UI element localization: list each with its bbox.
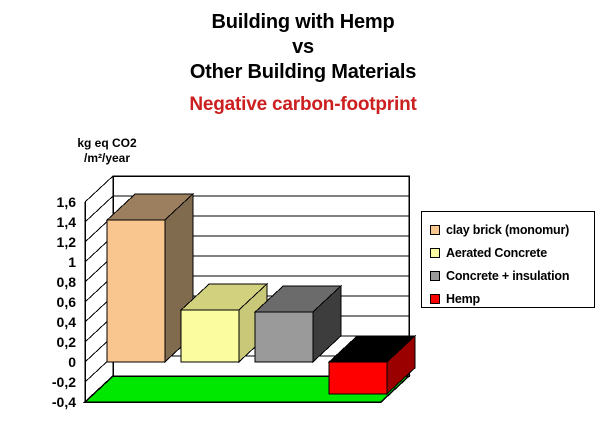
legend-swatch-icon bbox=[430, 248, 440, 258]
y-tick-label: 0,2 bbox=[22, 335, 76, 349]
y-tick-label: 0,8 bbox=[22, 275, 76, 289]
legend-item[interactable]: Concrete + insulation bbox=[430, 265, 594, 286]
bar-front-face bbox=[329, 362, 387, 394]
y-tick-label: 0,4 bbox=[22, 315, 76, 329]
y-tick-label: 1 bbox=[22, 255, 76, 269]
legend-item-label: Concrete + insulation bbox=[446, 269, 569, 283]
legend-item[interactable]: clay brick (monomur) bbox=[430, 219, 594, 240]
bar-front-face bbox=[255, 312, 313, 362]
tick-connector bbox=[85, 176, 113, 202]
legend-item-label: Hemp bbox=[446, 292, 480, 306]
legend[interactable]: clay brick (monomur)Aerated ConcreteConc… bbox=[421, 211, 595, 308]
bar-front-face bbox=[181, 310, 239, 362]
y-tick-label: 0,6 bbox=[22, 295, 76, 309]
y-tick-label: 1,4 bbox=[22, 215, 76, 229]
legend-item-label: clay brick (monomur) bbox=[446, 223, 569, 237]
legend-item-label: Aerated Concrete bbox=[446, 246, 547, 260]
y-tick-label: -0,2 bbox=[22, 375, 76, 389]
chart-root: Building with Hemp vs Other Building Mat… bbox=[0, 0, 606, 430]
legend-item[interactable]: Aerated Concrete bbox=[430, 242, 594, 263]
bar-front-face bbox=[107, 220, 165, 362]
y-tick-label: 1,6 bbox=[22, 195, 76, 209]
y-tick-label: -0,4 bbox=[22, 395, 76, 409]
legend-item[interactable]: Hemp bbox=[430, 288, 594, 309]
y-tick-label: 1,2 bbox=[22, 235, 76, 249]
legend-swatch-icon bbox=[430, 271, 440, 281]
legend-swatch-icon bbox=[430, 225, 440, 235]
y-tick-label: 0 bbox=[22, 355, 76, 369]
bar-0 bbox=[107, 194, 193, 362]
legend-swatch-icon bbox=[430, 294, 440, 304]
